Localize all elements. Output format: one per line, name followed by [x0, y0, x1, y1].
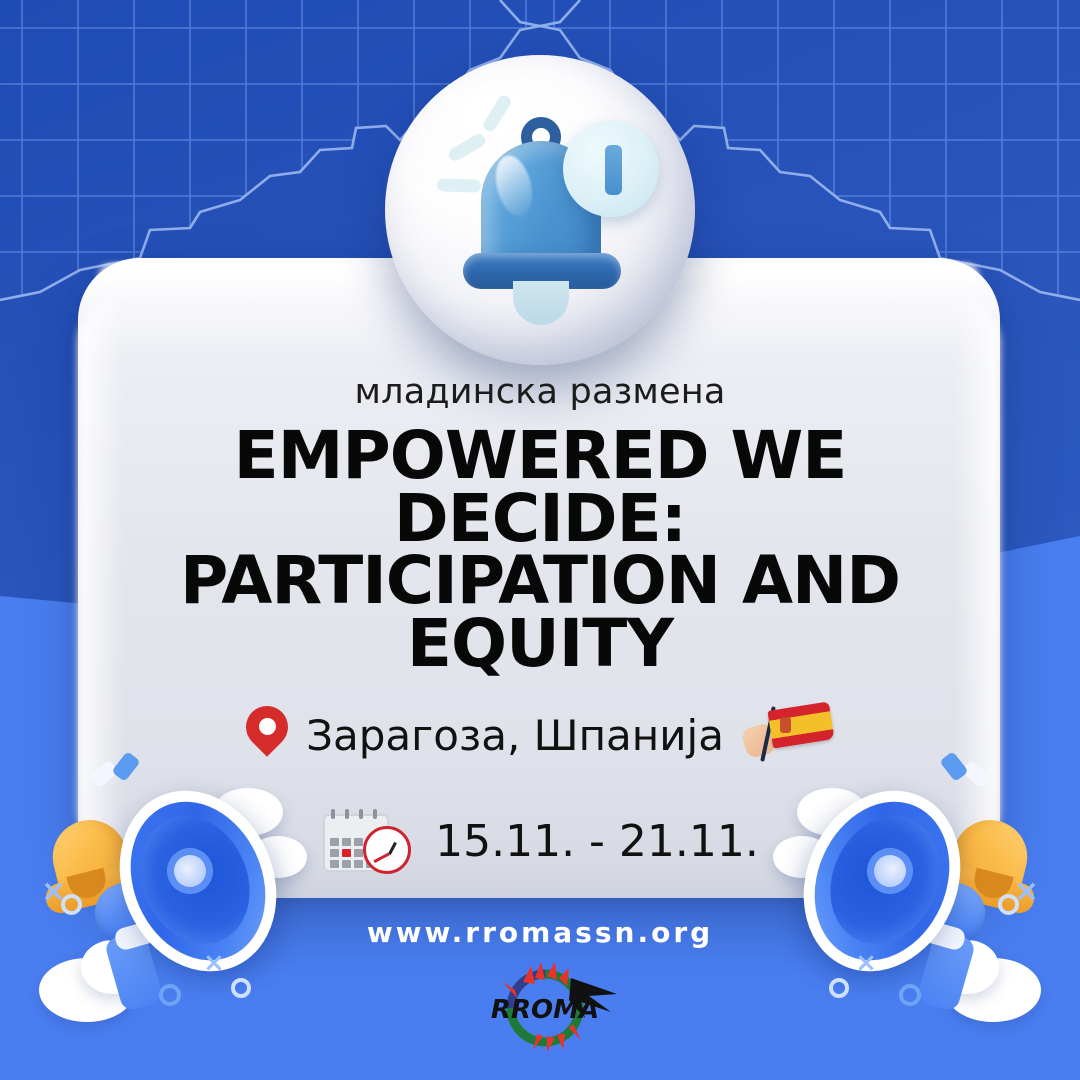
notification-bell-sphere: [385, 55, 695, 365]
exclamation-bar-icon: [605, 145, 622, 195]
confetti-cross: ×: [855, 948, 877, 978]
bell-ray-icon: [437, 178, 481, 193]
bell-clapper: [513, 281, 569, 325]
location-label: Зарагоза, Шпанија: [306, 711, 724, 760]
confetti-ring: [61, 894, 82, 915]
megaphone-right-icon: × ×: [745, 752, 1045, 1052]
confetti-ring: [829, 978, 849, 998]
date-label: 15.11. - 21.11.: [435, 816, 759, 867]
calendar-clock-icon: [321, 808, 417, 874]
confetti-ring: [231, 978, 251, 998]
megaphone-left-icon: × ×: [35, 752, 335, 1052]
rroma-logo[interactable]: RROMA: [485, 960, 630, 1052]
kicker-label: младинска размена: [0, 372, 1080, 412]
title-line: DECIDE:: [120, 488, 960, 551]
title-line: PARTICIPATION AND: [120, 550, 960, 613]
confetti-ring: [899, 984, 921, 1006]
confetti-ring: [998, 894, 1019, 915]
page-title: EMPOWERED WE DECIDE: PARTICIPATION AND E…: [120, 425, 960, 676]
logo-wordmark: RROMA: [491, 995, 599, 1025]
confetti-ring: [159, 984, 181, 1006]
title-line: EMPOWERED WE: [120, 425, 960, 488]
confetti-cross: ×: [203, 948, 225, 978]
title-line: EQUITY: [120, 613, 960, 676]
poster-canvas: младинска размена EMPOWERED WE DECIDE: P…: [0, 0, 1080, 1080]
